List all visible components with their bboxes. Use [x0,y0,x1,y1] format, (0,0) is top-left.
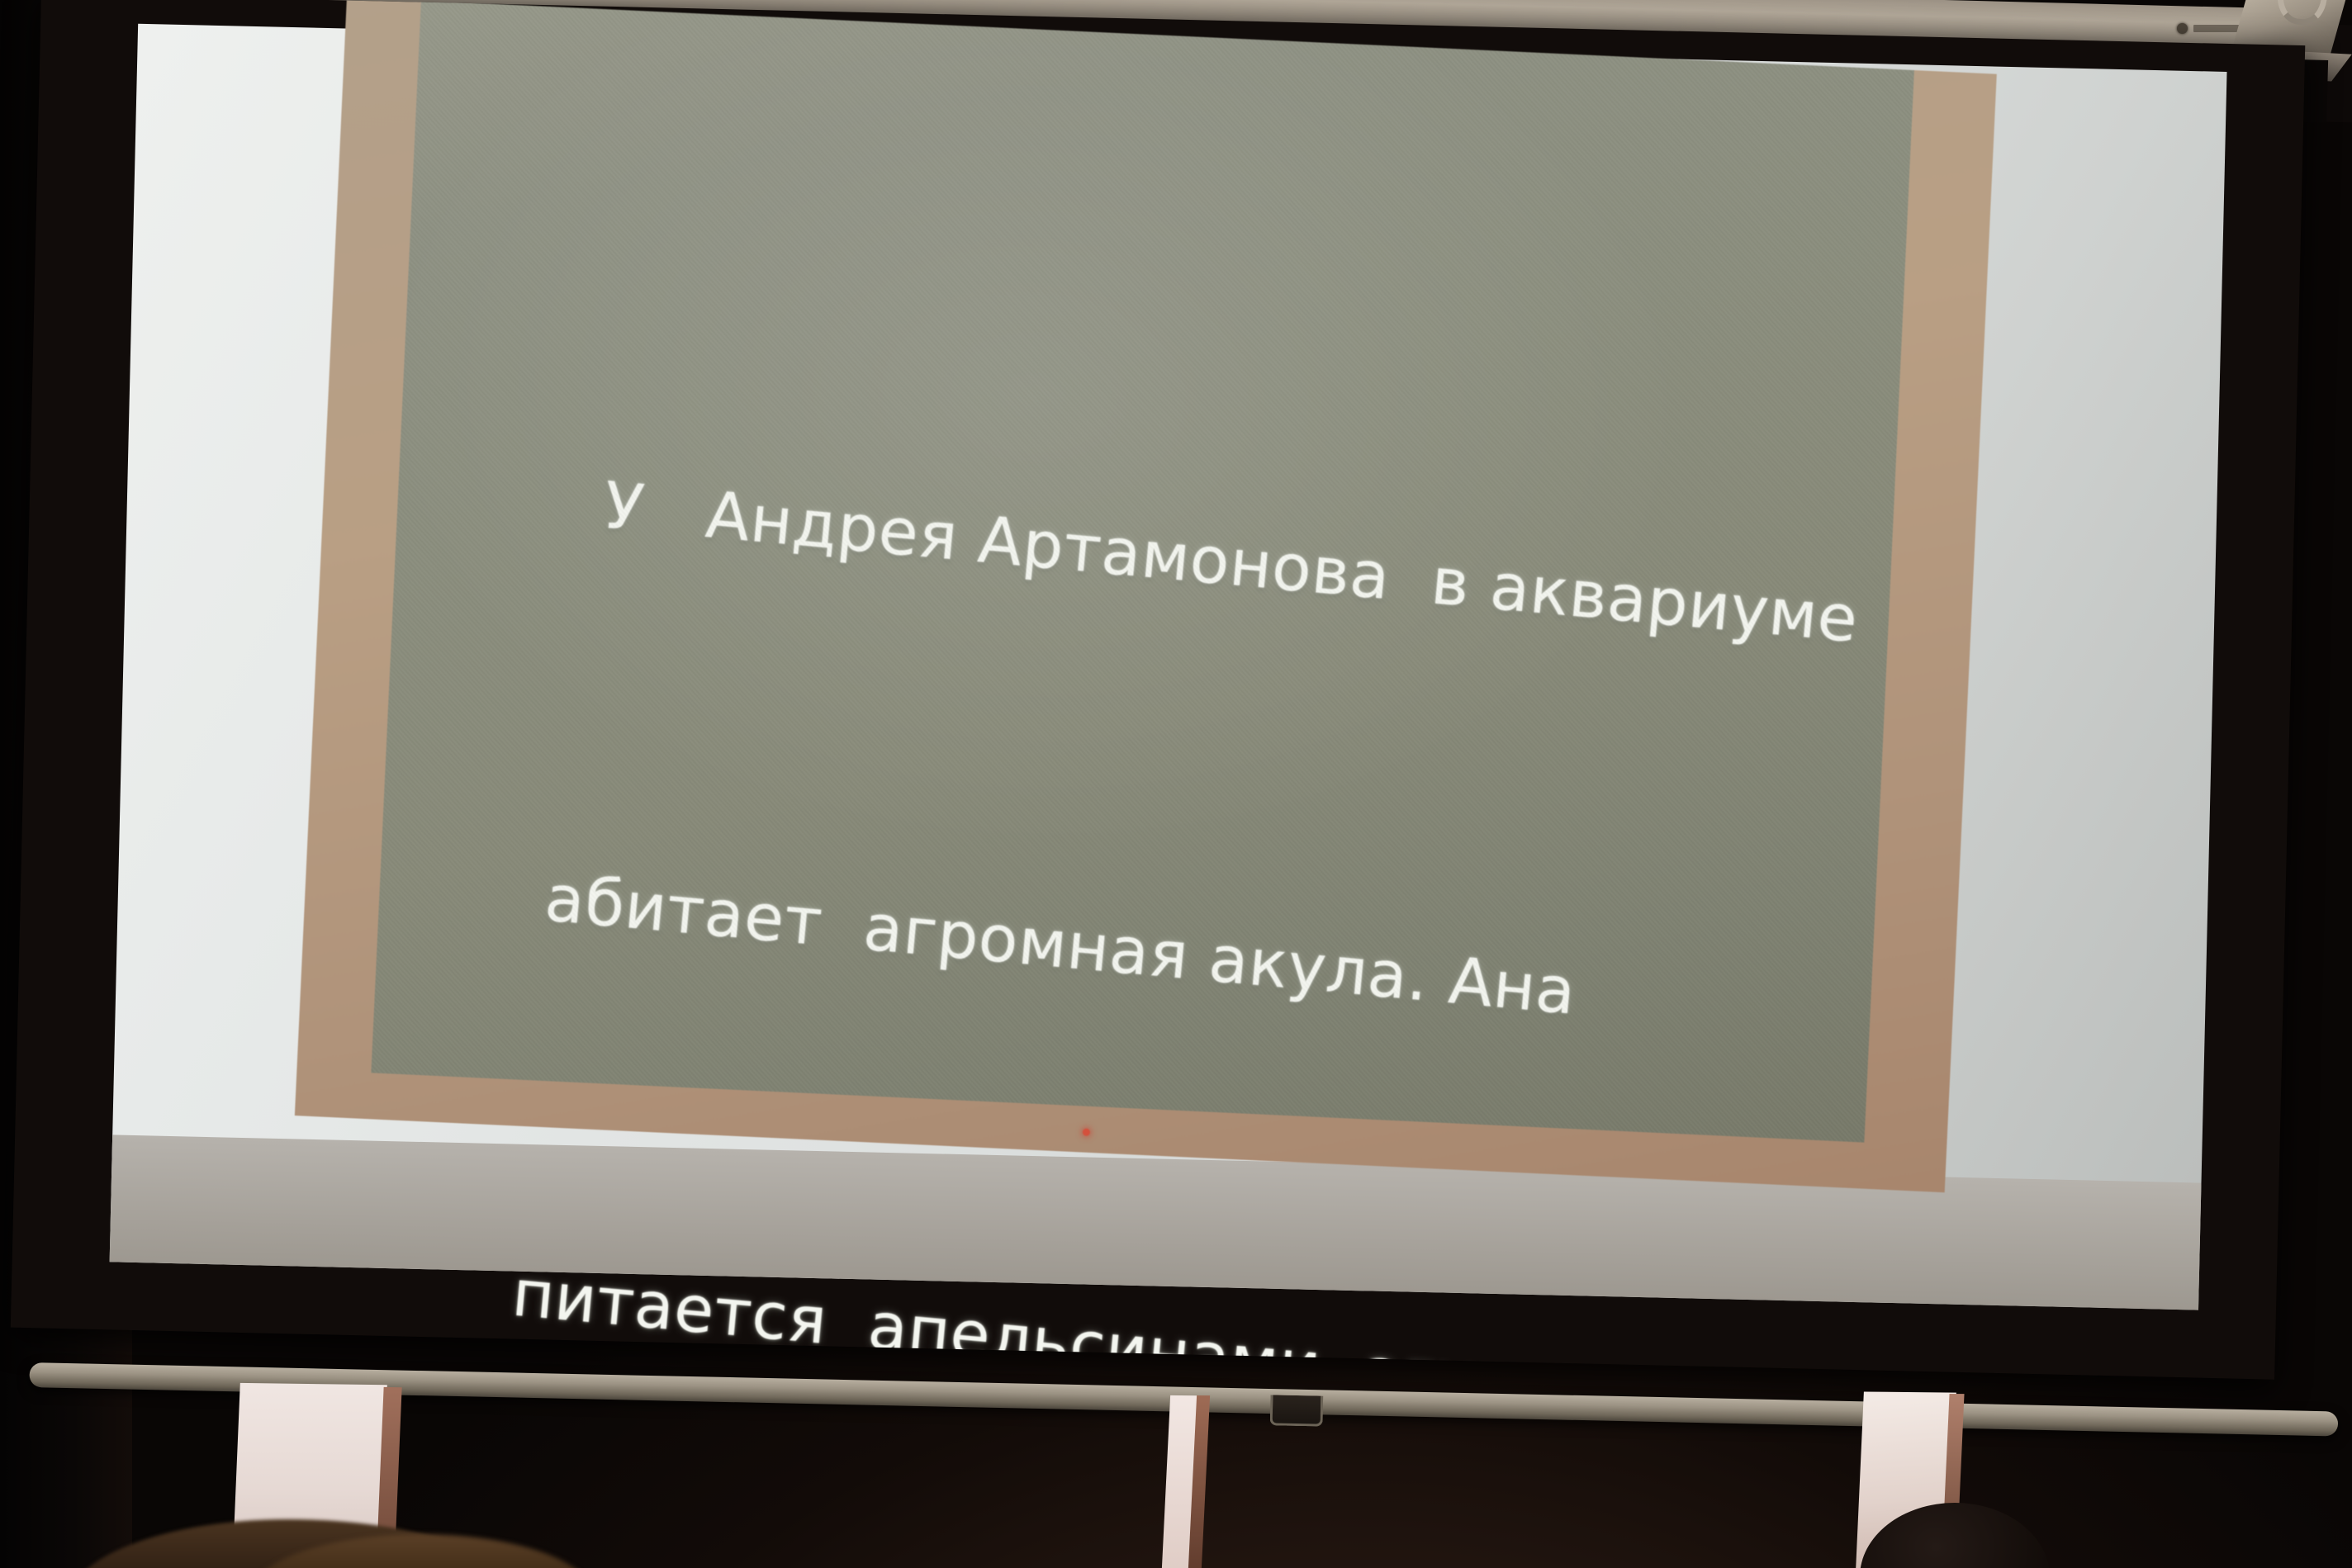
slide-canvas: У Андрея Артамонова в аквариуме абитает … [371,1,1914,1143]
casing-indicator-dot-icon [2177,23,2188,34]
projector-screen-frame: У Андрея Артамонова в аквариуме абитает … [11,0,2305,1380]
slide-body-text: У Андрея Артамонова в аквариуме абитает … [443,175,1894,1380]
slide-text-line-2: абитает агромная акула. Ана [539,832,1834,1081]
slide-border: У Андрея Артамонова в аквариуме абитает … [295,0,1997,1192]
screen-pull-handle[interactable] [1270,1395,1324,1426]
screenshot-stage: У Андрея Артамонова в аквариуме абитает … [0,0,2352,1568]
slide-text-line-1: У Андрея Артамонова в аквариуме [599,440,1871,687]
